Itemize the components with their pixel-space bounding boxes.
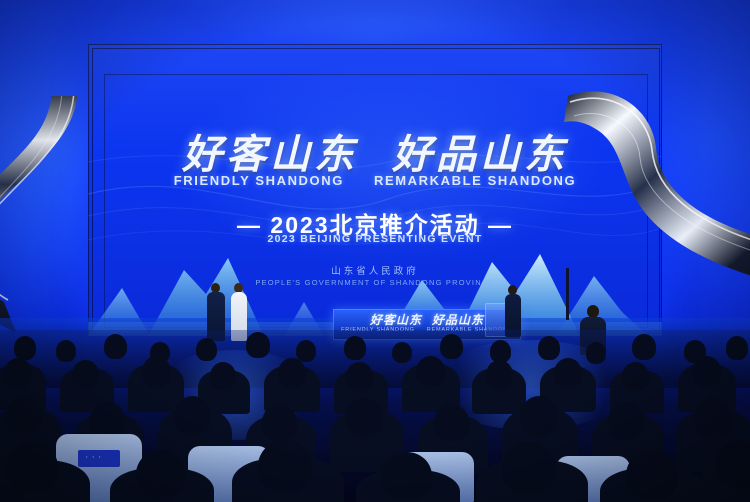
headline-cn-left: 好客山东 [182,132,358,177]
event-line-english: 2023 BEIJING PRESENTING EVENT [88,233,662,245]
audience-head [608,402,644,440]
audience-head [14,336,36,360]
audience-head [502,442,556,494]
audience-head [416,356,445,387]
audience-head [434,404,469,441]
audience-head [6,396,42,434]
audience-head [694,398,732,438]
audience-head [104,334,127,359]
audience-head [622,362,649,391]
audience-head [72,360,99,389]
headline-cn-right: 好品山东 [392,132,568,177]
audience-head [726,336,748,360]
audience-head [6,442,58,492]
audience-head [142,356,171,387]
audience-head [520,396,558,436]
audience-head [538,336,560,360]
audience-head [554,358,582,388]
audience-head [344,336,366,360]
audience-head [486,360,513,389]
microphone-stand [566,268,569,320]
audience-head [262,404,297,441]
audience-head [392,342,412,363]
audience-head [440,334,463,359]
audience-head [632,334,656,360]
organizer-english: PEOPLE'S GOVERNMENT OF SHANDONG PROVINCE [88,278,662,287]
audience-area: • • • [0,330,750,502]
podium-cn-right: 好品山东 [432,313,484,327]
organizer-chinese: 山东省人民政府 [88,263,662,277]
headline-en-right: REMARKABLE SHANDONG [374,173,576,188]
audience-head [4,358,32,388]
audience-head [246,332,270,358]
audience-head [196,338,217,361]
audience-head [278,358,306,388]
audience-head [56,340,76,362]
audience-head [716,440,750,488]
audience-head [136,450,186,498]
audience-head [692,356,721,387]
audience-head [346,398,383,437]
audience-head [586,342,606,364]
audience-head [174,396,211,435]
audience-head [346,362,373,391]
screen-headline: 好客山东好品山东 [88,122,662,180]
audience-head [210,362,236,390]
audience-head [258,440,312,492]
audience-head [382,452,432,500]
chair-tag-dots: • • • [86,454,102,459]
conference-stage-photo: 好客山东好品山东 FRIENDLY SHANDONGREMARKABLE SHA… [0,0,750,502]
audience-head [296,340,316,362]
podium-cn-left: 好客山东 [370,313,422,327]
audience-head [626,450,678,500]
headline-en-left: FRIENDLY SHANDONG [174,173,344,188]
screen-headline-english: FRIENDLY SHANDONGREMARKABLE SHANDONG [88,173,662,188]
